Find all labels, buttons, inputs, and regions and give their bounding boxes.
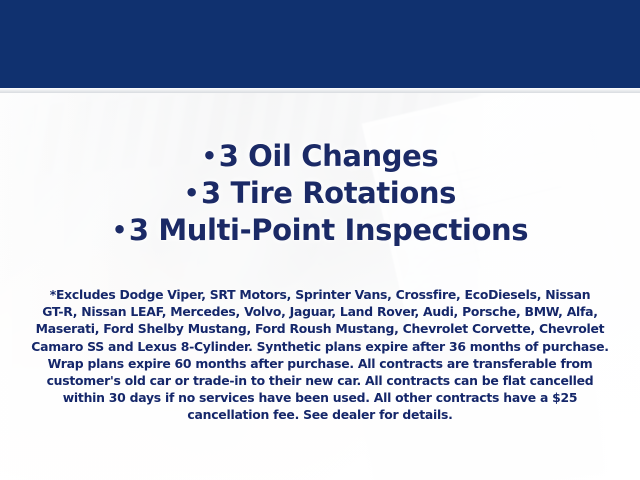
bullet-dot-icon: • <box>184 179 199 207</box>
list-item-label: 3 Oil Changes <box>219 139 439 173</box>
list-item: •3 Multi-Point Inspections <box>0 212 640 249</box>
legal-line: *Excludes Dodge Viper, SRT Motors, Sprin… <box>18 286 622 303</box>
legal-line: within 30 days if no services have been … <box>18 389 622 406</box>
bullet-dot-icon: • <box>202 142 217 170</box>
list-item: •3 Oil Changes <box>0 138 640 175</box>
list-item: •3 Tire Rotations <box>0 175 640 212</box>
legal-line: Wrap plans expire 60 months after purcha… <box>18 355 622 372</box>
legal-line: cancellation fee. See dealer for details… <box>18 406 622 423</box>
extracare-package-banner: ExtraCare Package* •3 Oil Changes •3 Tir… <box>0 0 640 480</box>
list-item-label: 3 Multi-Point Inspections <box>129 213 528 247</box>
legal-line: GT-R, Nissan LEAF, Mercedes, Volvo, Jagu… <box>18 303 622 320</box>
benefits-list: •3 Oil Changes •3 Tire Rotations •3 Mult… <box>0 138 640 249</box>
legal-line: Camaro SS and Lexus 8-Cylinder. Syntheti… <box>18 338 622 355</box>
list-item-label: 3 Tire Rotations <box>201 176 456 210</box>
legal-line: Maserati, Ford Shelby Mustang, Ford Rous… <box>18 320 622 337</box>
legal-line: customer's old car or trade-in to their … <box>18 372 622 389</box>
header-divider <box>0 88 640 93</box>
header-band <box>0 0 640 88</box>
bullet-dot-icon: • <box>112 216 127 244</box>
legal-disclaimer: *Excludes Dodge Viper, SRT Motors, Sprin… <box>18 286 622 424</box>
